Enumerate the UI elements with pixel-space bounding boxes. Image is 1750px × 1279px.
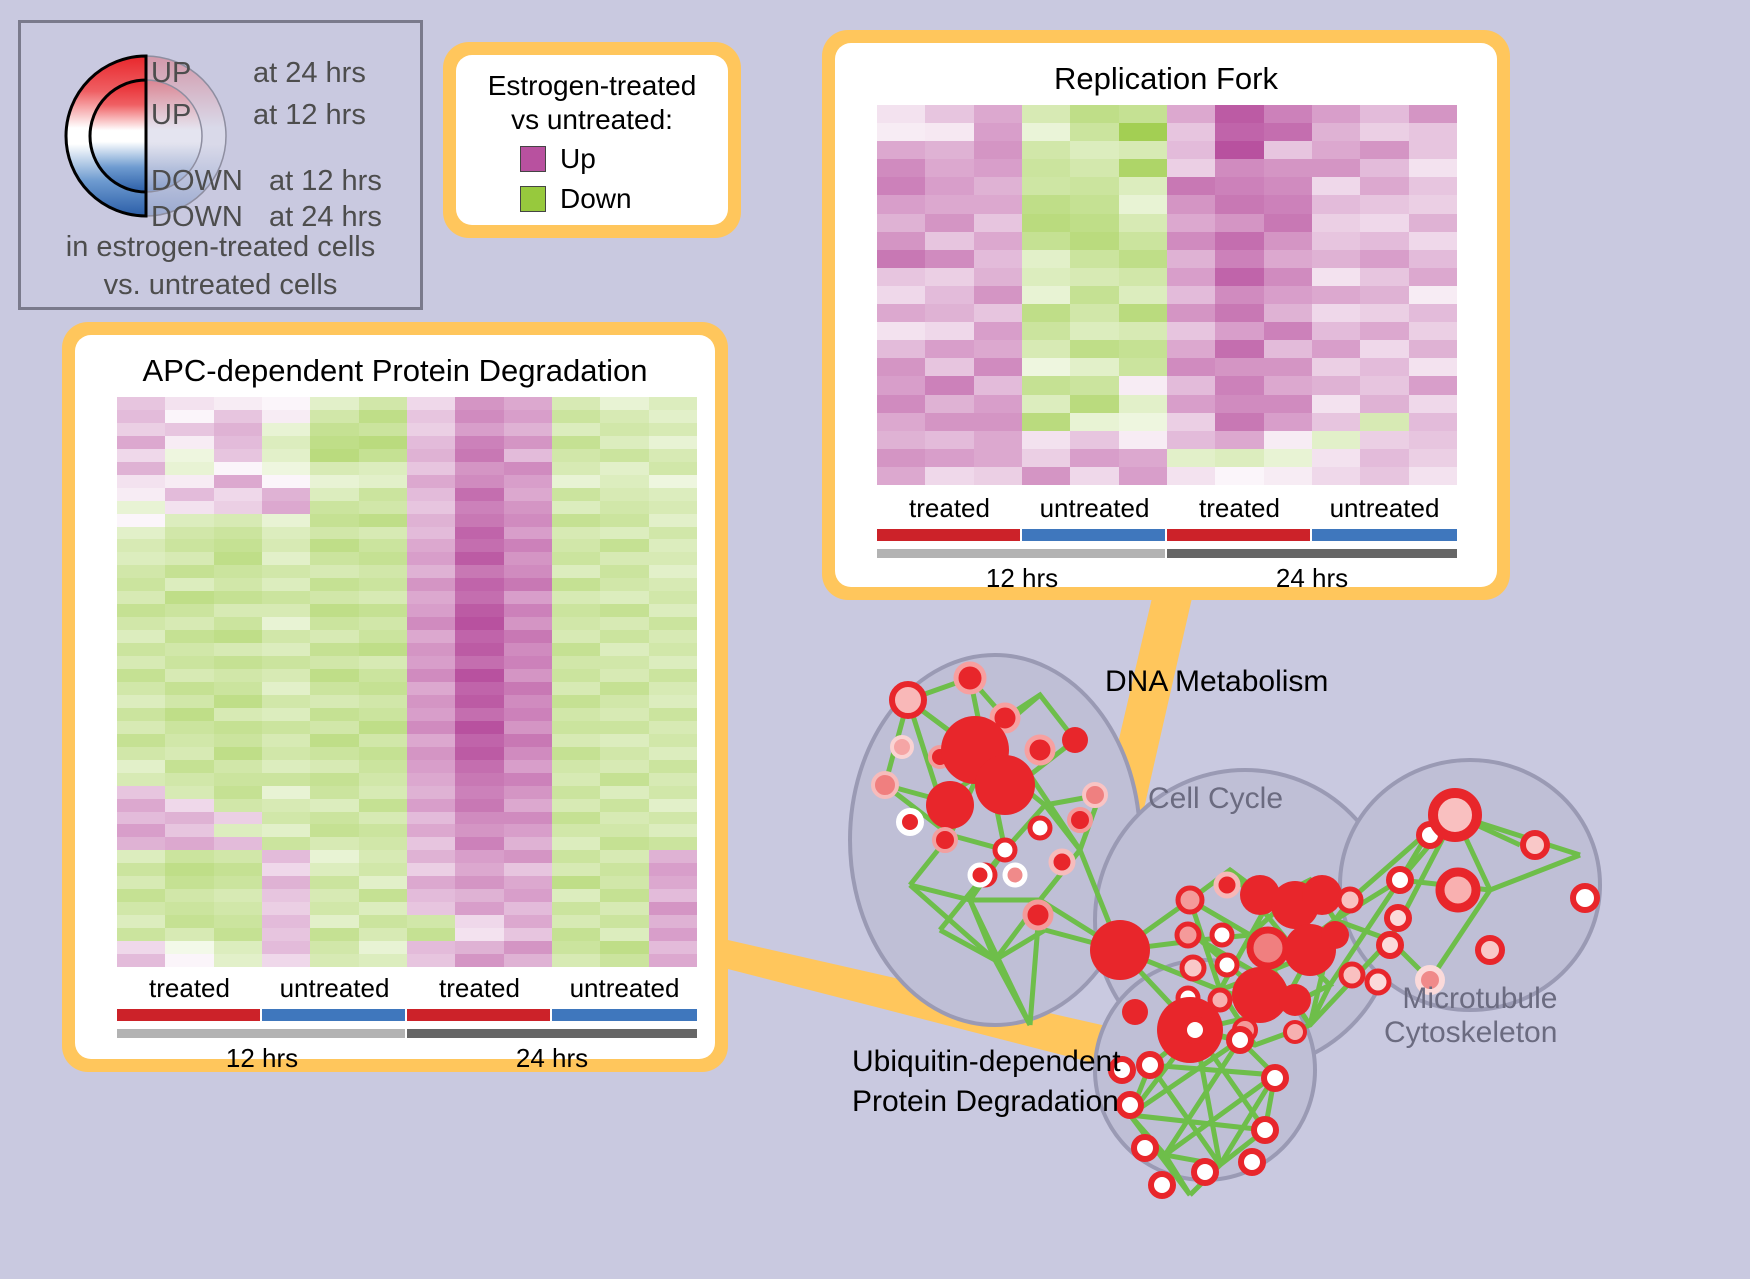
heatmap-cell	[359, 863, 407, 876]
heatmap-cell	[1409, 413, 1457, 431]
heatmap-cell	[925, 214, 973, 232]
heatmap-cell	[600, 954, 648, 967]
heatmap-cell	[1070, 214, 1118, 232]
heatmap-cell	[359, 695, 407, 708]
heatmap-cell	[1070, 358, 1118, 376]
heatmap-cell	[214, 475, 262, 488]
heatmap-cell	[455, 514, 503, 527]
heatmap-cell	[1409, 376, 1457, 394]
heatmap-cell	[552, 397, 600, 410]
heatmap-cell	[165, 423, 213, 436]
heatmap-cell	[455, 475, 503, 488]
heatmap-cell	[974, 467, 1022, 485]
heatmap-cell	[165, 850, 213, 863]
heatmap-cell	[165, 565, 213, 578]
heatmap-cell	[262, 928, 310, 941]
heatmap-cell	[117, 669, 165, 682]
heatmap-cell	[877, 431, 925, 449]
heatmap-cell	[359, 462, 407, 475]
heatmap-cell	[1022, 449, 1070, 467]
heatmap-cell	[925, 358, 973, 376]
heatmap-cell	[165, 721, 213, 734]
heatmap-cell	[262, 565, 310, 578]
heatmap-cell	[359, 397, 407, 410]
heatmap-cell	[117, 876, 165, 889]
legend-label-down: Down	[560, 183, 632, 215]
heatmap-cell	[600, 747, 648, 760]
heatmap-cell	[407, 708, 455, 721]
legend-title-line1: Estrogen-treated	[456, 69, 728, 103]
heatmap-cell	[1312, 340, 1360, 358]
heatmap-cell	[649, 488, 697, 501]
heatmap-cell	[504, 643, 552, 656]
heatmap-cell	[1215, 214, 1263, 232]
heatmap-cell	[214, 552, 262, 565]
heatmap-cell	[1409, 322, 1457, 340]
heatmap-cell	[262, 604, 310, 617]
heatmap-cell	[310, 397, 358, 410]
heatmap-cell	[552, 695, 600, 708]
heatmap-cell	[455, 747, 503, 760]
heatmap-cell	[407, 682, 455, 695]
heatmap-cell	[407, 423, 455, 436]
heatmap-cell	[600, 410, 648, 423]
heatmap-cell	[407, 760, 455, 773]
heatmap-cell	[877, 304, 925, 322]
heatmap-cell	[600, 941, 648, 954]
heatmap-cell	[649, 397, 697, 410]
heatmap-cell	[165, 786, 213, 799]
heatmap-cell	[407, 915, 455, 928]
heatmap-cell	[877, 449, 925, 467]
group-color-bar	[1167, 529, 1312, 541]
heatmap-cell	[1167, 322, 1215, 340]
heatmap-cell	[117, 695, 165, 708]
heatmap-cell	[504, 889, 552, 902]
heatmap-cell	[310, 876, 358, 889]
heatmap-cell	[552, 760, 600, 773]
heatmap-cell	[1070, 431, 1118, 449]
heatmap-cell	[165, 682, 213, 695]
heatmap-cell	[1409, 159, 1457, 177]
heatmap-cell	[1022, 214, 1070, 232]
heatmap-cell	[1409, 467, 1457, 485]
heatmap-cell	[1167, 141, 1215, 159]
heatmap-cell	[359, 941, 407, 954]
heatmap-cell	[600, 475, 648, 488]
heatmap-cell	[359, 617, 407, 630]
heatmap-cell	[1264, 286, 1312, 304]
heatmap-cell	[1167, 413, 1215, 431]
heatmap-cell	[649, 410, 697, 423]
heatmap-cell	[552, 462, 600, 475]
heatmap-cell	[552, 954, 600, 967]
heatmap-cell	[407, 617, 455, 630]
replication-fork-heatmap	[877, 105, 1457, 485]
heatmap-cell	[1312, 195, 1360, 213]
heatmap-cell	[455, 824, 503, 837]
group-label: untreated	[1312, 493, 1457, 524]
heatmap-cell	[1215, 304, 1263, 322]
heatmap-cell	[925, 467, 973, 485]
heatmap-cell	[925, 449, 973, 467]
heatmap-cell	[310, 436, 358, 449]
heatmap-cell	[504, 760, 552, 773]
heatmap-cell	[600, 514, 648, 527]
heatmap-cell	[407, 954, 455, 967]
heatmap-cell	[407, 786, 455, 799]
heatmap-cell	[504, 812, 552, 825]
heatmap-cell	[1022, 232, 1070, 250]
heatmap-cell	[1215, 232, 1263, 250]
heatmap-cell	[504, 824, 552, 837]
heatmap-cell	[552, 786, 600, 799]
heatmap-cell	[455, 786, 503, 799]
heatmap-cell	[552, 902, 600, 915]
heatmap-cell	[165, 436, 213, 449]
heatmap-cell	[1070, 268, 1118, 286]
heatmap-cell	[1022, 177, 1070, 195]
cluster-label-microtubule-line2: Cytoskeleton	[1384, 1016, 1557, 1050]
heatmap-cell	[262, 812, 310, 825]
heatmap-cell	[1070, 159, 1118, 177]
heatmap-cell	[1119, 123, 1167, 141]
heatmap-cell	[214, 669, 262, 682]
heatmap-cell	[649, 760, 697, 773]
heatmap-cell	[974, 268, 1022, 286]
heatmap-cell	[262, 449, 310, 462]
heatmap-cell	[600, 488, 648, 501]
heatmap-cell	[974, 250, 1022, 268]
replication-fork-time-labels: 12 hrs24 hrs	[877, 563, 1457, 594]
heatmap-cell	[117, 747, 165, 760]
heatmap-cell	[455, 915, 503, 928]
heatmap-cell	[455, 954, 503, 967]
heatmap-cell	[504, 747, 552, 760]
heatmap-cell	[1119, 467, 1167, 485]
heatmap-cell	[649, 734, 697, 747]
heatmap-cell	[165, 669, 213, 682]
heatmap-cell	[1312, 268, 1360, 286]
heatmap-cell	[455, 863, 503, 876]
heatmap-cell	[649, 954, 697, 967]
heatmap-cell	[600, 708, 648, 721]
heatmap-cell	[310, 954, 358, 967]
heatmap-cell	[600, 552, 648, 565]
heatmap-cell	[165, 539, 213, 552]
heatmap-cell	[214, 436, 262, 449]
heatmap-cell	[877, 286, 925, 304]
heatmap-cell	[455, 539, 503, 552]
heatmap-cell	[1215, 467, 1263, 485]
heatmap-cell	[310, 617, 358, 630]
heatmap-cell	[1312, 232, 1360, 250]
heatmap-cell	[1070, 232, 1118, 250]
heatmap-cell	[214, 578, 262, 591]
heatmap-cell	[877, 177, 925, 195]
heatmap-cell	[165, 837, 213, 850]
heatmap-cell	[165, 941, 213, 954]
key-label-up-12: UP	[151, 99, 191, 132]
heatmap-cell	[974, 232, 1022, 250]
heatmap-cell	[552, 565, 600, 578]
cluster-label-ubiquitin: Ubiquitin-dependent Protein Degradation	[852, 1042, 1121, 1122]
heatmap-cell	[1215, 322, 1263, 340]
heatmap-cell	[455, 488, 503, 501]
heatmap-cell	[310, 643, 358, 656]
heatmap-cell	[925, 159, 973, 177]
heatmap-cell	[1119, 304, 1167, 322]
heatmap-cell	[552, 643, 600, 656]
heatmap-cell	[504, 773, 552, 786]
heatmap-cell	[877, 467, 925, 485]
heatmap-cell	[1119, 159, 1167, 177]
heatmap-cell	[1312, 467, 1360, 485]
heatmap-cell	[649, 812, 697, 825]
heatmap-cell	[214, 915, 262, 928]
heatmap-cell	[600, 876, 648, 889]
time-color-bar	[117, 1029, 407, 1038]
heatmap-cell	[504, 902, 552, 915]
heatmap-cell	[1312, 376, 1360, 394]
heatmap-cell	[214, 527, 262, 540]
heatmap-cell	[165, 397, 213, 410]
heatmap-cell	[1215, 123, 1263, 141]
heatmap-cell	[1264, 467, 1312, 485]
heatmap-cell	[455, 449, 503, 462]
heatmap-cell	[407, 462, 455, 475]
heatmap-cell	[925, 304, 973, 322]
heatmap-cell	[117, 837, 165, 850]
heatmap-cell	[359, 747, 407, 760]
heatmap-cell	[165, 708, 213, 721]
heatmap-cell	[504, 799, 552, 812]
heatmap-cell	[165, 799, 213, 812]
heatmap-cell	[504, 578, 552, 591]
heatmap-cell	[925, 431, 973, 449]
time-label: 12 hrs	[117, 1043, 407, 1074]
heatmap-cell	[1264, 358, 1312, 376]
heatmap-cell	[1360, 286, 1408, 304]
heatmap-cell	[600, 539, 648, 552]
heatmap-cell	[1215, 159, 1263, 177]
heatmap-cell	[455, 669, 503, 682]
heatmap-cell	[1167, 340, 1215, 358]
heatmap-cell	[1070, 340, 1118, 358]
heatmap-cell	[262, 643, 310, 656]
heatmap-cell	[1312, 214, 1360, 232]
heatmap-cell	[359, 578, 407, 591]
heatmap-cell	[262, 799, 310, 812]
heatmap-cell	[877, 322, 925, 340]
heatmap-cell	[359, 630, 407, 643]
heatmap-cell	[310, 889, 358, 902]
heatmap-cell	[214, 734, 262, 747]
heatmap-cell	[600, 760, 648, 773]
heatmap-cell	[1360, 141, 1408, 159]
heatmap-cell	[877, 268, 925, 286]
heatmap-cell	[1264, 268, 1312, 286]
heatmap-cell	[552, 423, 600, 436]
heatmap-cell	[165, 514, 213, 527]
heatmap-cell	[974, 123, 1022, 141]
heatmap-cell	[877, 214, 925, 232]
heatmap-cell	[600, 501, 648, 514]
heatmap-cell	[1312, 304, 1360, 322]
heatmap-cell	[359, 876, 407, 889]
heatmap-cell	[117, 591, 165, 604]
heatmap-cell	[552, 501, 600, 514]
heatmap-cell	[974, 304, 1022, 322]
heatmap-cell	[1360, 322, 1408, 340]
heatmap-cell	[504, 682, 552, 695]
heatmap-cell	[117, 902, 165, 915]
heatmap-cell	[214, 565, 262, 578]
heatmap-cell	[1119, 322, 1167, 340]
heatmap-cell	[262, 889, 310, 902]
heatmap-cell	[1409, 177, 1457, 195]
heatmap-cell	[552, 773, 600, 786]
heatmap-cell	[504, 462, 552, 475]
heatmap-cell	[262, 617, 310, 630]
heatmap-cell	[649, 423, 697, 436]
heatmap-cell	[117, 954, 165, 967]
heatmap-cell	[877, 141, 925, 159]
heatmap-cell	[214, 824, 262, 837]
heatmap-cell	[262, 695, 310, 708]
legend-title: Estrogen-treated vs untreated:	[456, 69, 728, 137]
heatmap-cell	[600, 669, 648, 682]
heatmap-cell	[359, 410, 407, 423]
heatmap-cell	[310, 721, 358, 734]
heatmap-cell	[214, 488, 262, 501]
heatmap-cell	[649, 695, 697, 708]
heatmap-cell	[117, 462, 165, 475]
key-time-up-12: at 12 hrs	[253, 99, 366, 132]
heatmap-cell	[455, 410, 503, 423]
heatmap-cell	[925, 395, 973, 413]
heatmap-cell	[1167, 431, 1215, 449]
heatmap-cell	[552, 747, 600, 760]
heatmap-cell	[552, 578, 600, 591]
heatmap-cell	[552, 527, 600, 540]
heatmap-cell	[649, 475, 697, 488]
heatmap-cell	[1119, 195, 1167, 213]
heatmap-cell	[649, 850, 697, 863]
heatmap-cell	[649, 902, 697, 915]
heatmap-cell	[310, 410, 358, 423]
heatmap-cell	[974, 214, 1022, 232]
heatmap-cell	[600, 462, 648, 475]
heatmap-cell	[359, 734, 407, 747]
heatmap-cell	[504, 488, 552, 501]
key-footer-line1: in estrogen-treated cells	[21, 228, 420, 266]
heatmap-cell	[1264, 449, 1312, 467]
heatmap-cell	[925, 232, 973, 250]
heatmap-cell	[504, 514, 552, 527]
heatmap-cell	[1022, 123, 1070, 141]
key-label-up-24: UP	[151, 57, 191, 90]
heatmap-cell	[1119, 413, 1167, 431]
heatmap-cell	[1215, 141, 1263, 159]
heatmap-cell	[877, 340, 925, 358]
heatmap-cell	[1070, 395, 1118, 413]
heatmap-cell	[455, 527, 503, 540]
heatmap-cell	[1264, 340, 1312, 358]
heatmap-cell	[407, 643, 455, 656]
heatmap-cell	[262, 656, 310, 669]
heatmap-cell	[600, 824, 648, 837]
heatmap-cell	[407, 656, 455, 669]
heatmap-cell	[214, 514, 262, 527]
heatmap-cell	[1264, 195, 1312, 213]
heatmap-cell	[1022, 395, 1070, 413]
pathway-network	[790, 600, 1750, 1279]
group-color-bar	[877, 529, 1022, 541]
heatmap-cell	[1312, 141, 1360, 159]
heatmap-cell	[1119, 214, 1167, 232]
heatmap-cell	[1119, 449, 1167, 467]
heatmap-cell	[1409, 232, 1457, 250]
legend-card-inner: Estrogen-treated vs untreated: Up Down	[456, 55, 728, 225]
heatmap-cell	[1070, 467, 1118, 485]
heatmap-cell	[1360, 449, 1408, 467]
cluster-label-ubiquitin-line1: Ubiquitin-dependent	[852, 1042, 1121, 1082]
heatmap-cell	[1215, 105, 1263, 123]
heatmap-cell	[310, 449, 358, 462]
heatmap-cell	[455, 423, 503, 436]
heatmap-cell	[262, 734, 310, 747]
heatmap-cell	[262, 591, 310, 604]
heatmap-cell	[117, 721, 165, 734]
heatmap-cell	[455, 630, 503, 643]
replication-fork-group-bars	[877, 529, 1457, 541]
key-time-up-24: at 24 hrs	[253, 57, 366, 90]
heatmap-cell	[1119, 105, 1167, 123]
heatmap-cell	[214, 449, 262, 462]
heatmap-cell	[504, 423, 552, 436]
heatmap-cell	[1070, 177, 1118, 195]
heatmap-cell	[1215, 358, 1263, 376]
heatmap-cell	[1264, 105, 1312, 123]
heatmap-cell	[1022, 268, 1070, 286]
heatmap-cell	[1215, 395, 1263, 413]
heatmap-cell	[1022, 413, 1070, 431]
heatmap-cell	[214, 747, 262, 760]
key-footer-line2: vs. untreated cells	[21, 266, 420, 304]
heatmap-cell	[649, 863, 697, 876]
replication-fork-group-labels: treateduntreatedtreateduntreated	[877, 493, 1457, 524]
heatmap-cell	[649, 824, 697, 837]
heatmap-cell	[649, 436, 697, 449]
time-label: 12 hrs	[877, 563, 1167, 594]
heatmap-cell	[649, 604, 697, 617]
heatmap-cell	[1119, 141, 1167, 159]
heatmap-cell	[262, 915, 310, 928]
heatmap-cell	[925, 340, 973, 358]
heatmap-cell	[407, 747, 455, 760]
heatmap-cell	[504, 565, 552, 578]
heatmap-cell	[1264, 214, 1312, 232]
heatmap-cell	[504, 591, 552, 604]
apc-title: APC-dependent Protein Degradation	[75, 353, 715, 389]
heatmap-cell	[504, 410, 552, 423]
heatmap-cell	[1215, 376, 1263, 394]
heatmap-cell	[262, 514, 310, 527]
heatmap-cell	[1312, 395, 1360, 413]
heatmap-cell	[600, 682, 648, 695]
heatmap-cell	[1409, 395, 1457, 413]
